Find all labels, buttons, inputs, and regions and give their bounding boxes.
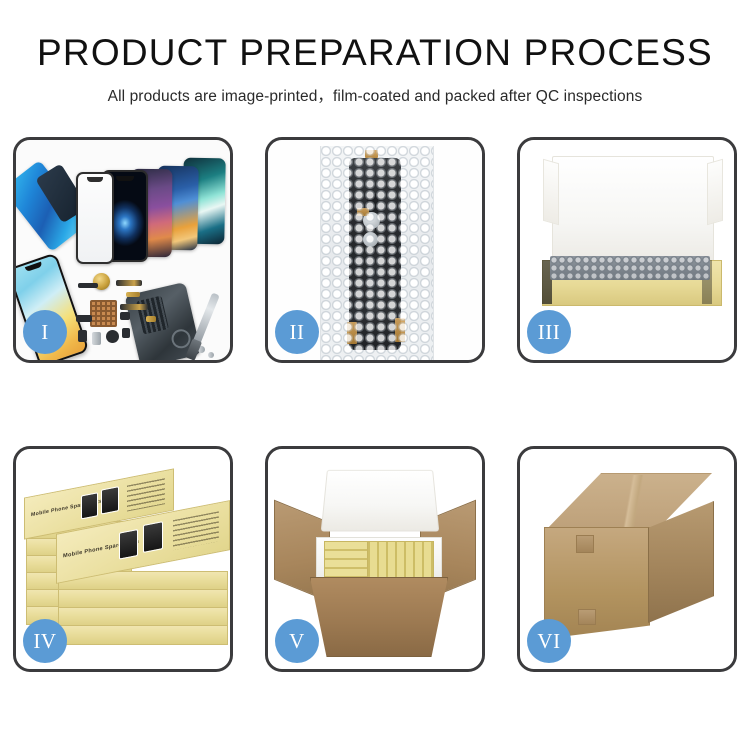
step-badge-5: V (275, 619, 319, 663)
foam-cooler-lid (321, 470, 440, 532)
tape-bottom-right (395, 318, 405, 342)
part-gold-clip (146, 316, 156, 322)
page-header: PRODUCT PREPARATION PROCESS All products… (0, 0, 750, 106)
yellow-boxes-vertical (324, 541, 368, 583)
step-badge-2: II (275, 310, 319, 354)
box-phone-thumbnail (119, 529, 138, 560)
part-flex-cable (116, 280, 142, 286)
step-panel-3[interactable]: III (517, 137, 737, 363)
step-badge-4: IV (23, 619, 67, 663)
screw-2 (208, 352, 214, 358)
part-small-block (78, 330, 87, 342)
part-connector (76, 315, 92, 322)
step-badge-6: VI (527, 619, 571, 663)
white-foam-lid (552, 156, 714, 266)
phone-front-glass-white (76, 172, 114, 264)
bubble-wrap-fill (550, 256, 710, 280)
box-phone-thumbnail (101, 486, 119, 514)
page-subtitle: All products are image-printed，film-coat… (0, 84, 750, 106)
stack-box-edge (58, 589, 228, 609)
page-title: PRODUCT PREPARATION PROCESS (0, 34, 750, 73)
part-silver-module (92, 332, 101, 345)
part-speaker (106, 330, 119, 343)
stack-box-edge (58, 625, 228, 645)
tape-middle (357, 208, 369, 216)
step-panel-1[interactable]: I (13, 137, 233, 363)
step-badge-3: III (527, 310, 571, 354)
wrapped-phone-part (349, 158, 401, 350)
carton-tab-lower (578, 609, 596, 625)
tape-bottom-left (347, 322, 357, 344)
part-chip (120, 312, 130, 320)
step-panel-4[interactable]: Mobile Phone Spare Parts Mobile Phone Sp… (13, 446, 233, 672)
part-strip (78, 283, 98, 288)
tape-top (365, 150, 378, 158)
step-panel-2[interactable]: II (265, 137, 485, 363)
step-panel-6[interactable]: VI (517, 446, 737, 672)
process-steps-grid: I II (13, 137, 737, 672)
copper-chip-grid (90, 300, 117, 327)
part-camera (122, 328, 130, 338)
part-gold-connector (126, 292, 140, 297)
bubble-wrap-bag (320, 146, 434, 360)
part-connector-round-2 (363, 232, 378, 247)
box-phone-thumbnail (143, 521, 163, 553)
carton-body (310, 577, 448, 657)
part-flex-cable-2 (120, 304, 148, 310)
step-panel-5[interactable]: V (265, 446, 485, 672)
carton-tab-upper (576, 535, 594, 553)
step-badge-1: I (23, 310, 67, 354)
box-phone-thumbnail (81, 492, 98, 519)
stack-box-edge (58, 607, 228, 627)
